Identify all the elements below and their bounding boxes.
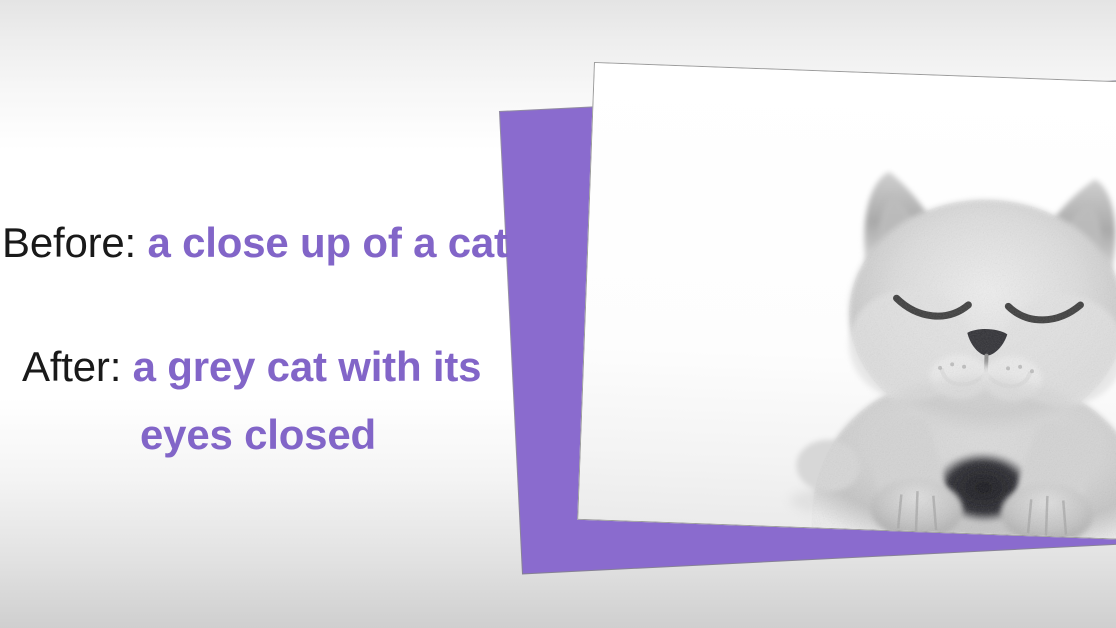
photo-frame-card[interactable] (577, 62, 1116, 542)
before-alt-text: a close up of a cat (148, 219, 508, 266)
before-label: Before: (2, 219, 136, 266)
after-caption-line: After: a grey cat with its (0, 346, 560, 388)
photo-area (578, 63, 1116, 541)
after-caption-line-continued: eyes closed (0, 414, 560, 456)
cat-photo (764, 112, 1116, 542)
slide-canvas: Before: a close up of a cat After: a gre… (0, 0, 1116, 628)
caption-block: Before: a close up of a cat After: a gre… (0, 222, 560, 456)
before-caption-line: Before: a close up of a cat (0, 222, 560, 264)
after-alt-text-line-1: a grey cat with its (133, 343, 482, 390)
after-alt-text-line-2: eyes closed (140, 411, 376, 458)
after-label: After: (22, 343, 121, 390)
